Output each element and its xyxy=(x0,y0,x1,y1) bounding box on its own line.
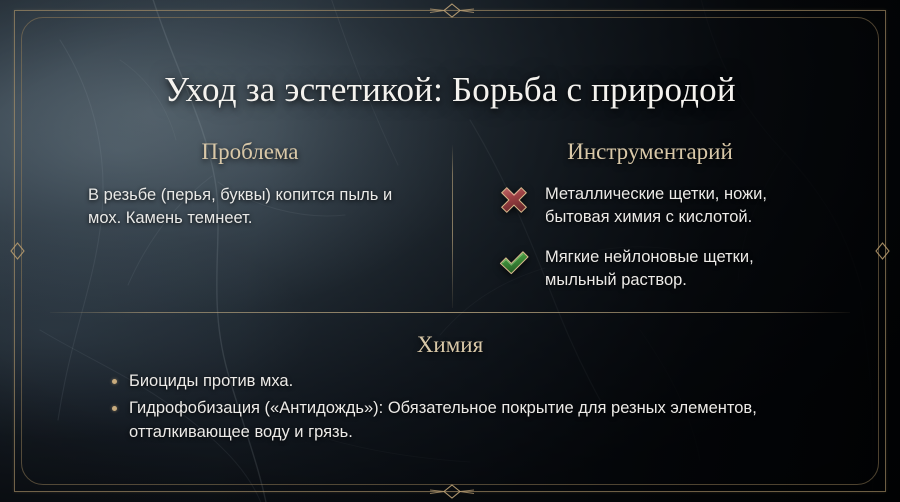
cross-icon xyxy=(497,183,531,217)
tools-item-good: Мягкие нейлоновые щетки, мыльный раствор… xyxy=(497,245,827,292)
page-title: Уход за эстетикой: Борьба с природой xyxy=(0,70,900,110)
check-icon xyxy=(497,246,531,280)
problem-heading: Проблема xyxy=(85,139,415,165)
slide-content: Уход за эстетикой: Борьба с природой Про… xyxy=(0,0,900,502)
slide-canvas: Уход за эстетикой: Борьба с природой Про… xyxy=(0,0,900,502)
tools-item-bad-text: Металлические щетки, ножи, бытовая химия… xyxy=(545,182,827,229)
tools-item-good-text: Мягкие нейлоновые щетки, мыльный раствор… xyxy=(545,245,827,292)
tools-item-bad: Металлические щетки, ножи, бытовая химия… xyxy=(497,182,827,229)
list-item: Гидрофобизация («Антидождь»): Обязательн… xyxy=(110,397,810,444)
section-divider xyxy=(50,312,850,313)
column-divider xyxy=(452,145,453,308)
list-item: Биоциды против мха. xyxy=(110,370,810,393)
chemistry-bullet-list: Биоциды против мха. Гидрофобизация («Ант… xyxy=(110,370,810,448)
chemistry-heading: Химия xyxy=(0,332,900,358)
problem-body-text: В резьбе (перья, буквы) копится пыль и м… xyxy=(88,184,418,231)
tools-heading: Инструментарий xyxy=(485,139,815,165)
